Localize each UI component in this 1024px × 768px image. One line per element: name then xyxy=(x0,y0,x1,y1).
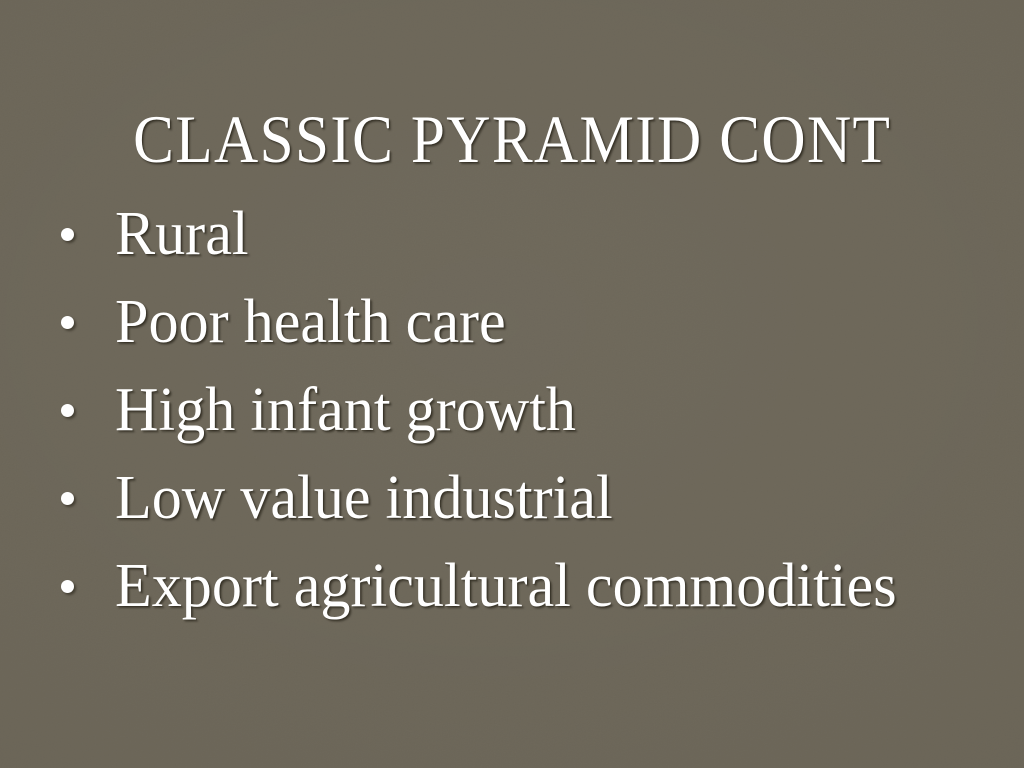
list-item-label: Poor health care xyxy=(115,289,506,355)
bullet-dot-icon xyxy=(61,404,74,417)
list-item: Rural xyxy=(55,190,1015,278)
list-item-label: Low value industrial xyxy=(115,465,613,531)
list-item-label: Rural xyxy=(115,201,249,267)
bullet-dot-icon xyxy=(61,316,74,329)
list-item-label: Export agricultural commodities xyxy=(115,553,897,619)
bullet-list: Rural Poor health care High infant growt… xyxy=(55,190,1015,630)
list-item: High infant growth xyxy=(55,366,1015,454)
list-item: Poor health care xyxy=(55,278,1015,366)
list-item: Low value industrial xyxy=(55,454,1015,542)
bullet-dot-icon xyxy=(61,228,74,241)
page-title: CLASSIC PYRAMID CONT xyxy=(133,102,891,176)
bullet-dot-icon xyxy=(61,580,74,593)
list-item: Export agricultural commodities xyxy=(55,542,1015,630)
presentation-slide: CLASSIC PYRAMID CONT Rural Poor health c… xyxy=(0,0,1024,768)
list-item-label: High infant growth xyxy=(115,377,576,443)
bullet-dot-icon xyxy=(61,492,74,505)
